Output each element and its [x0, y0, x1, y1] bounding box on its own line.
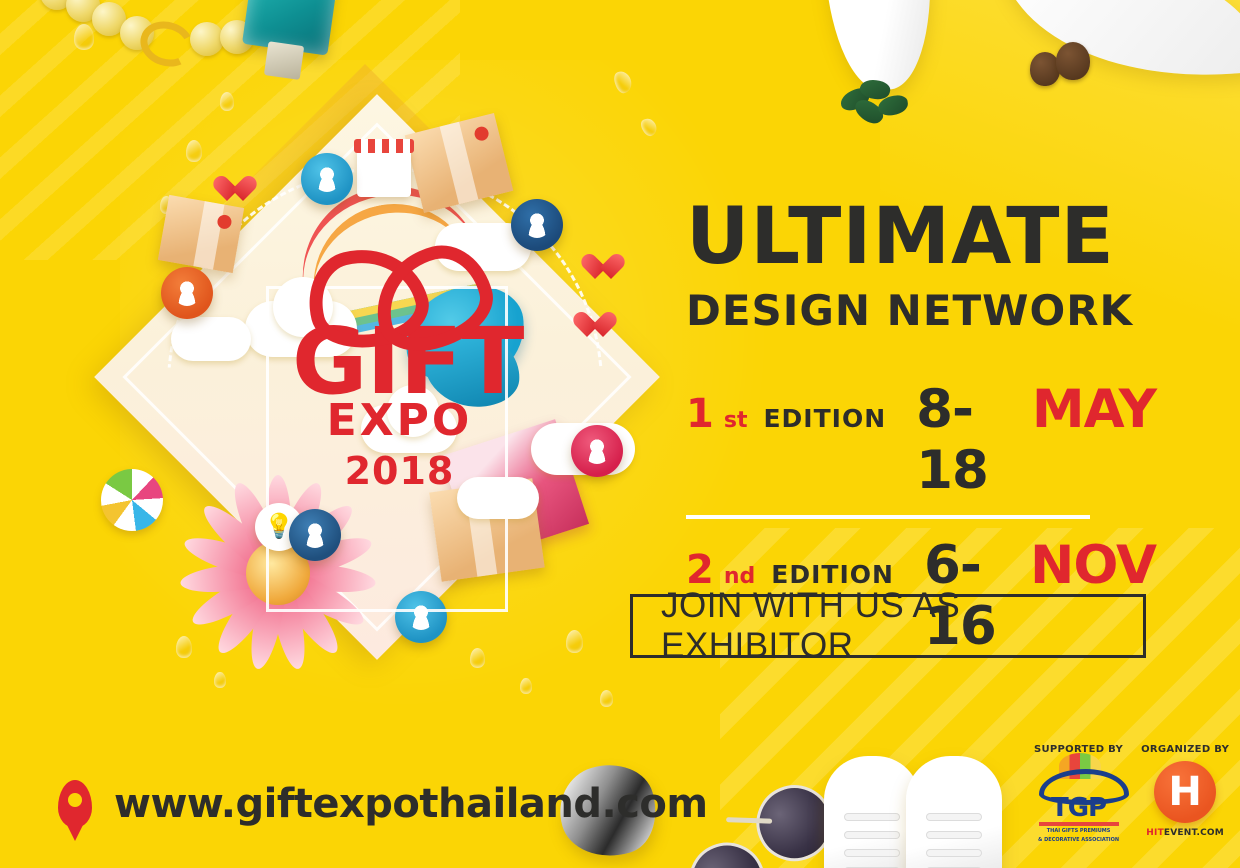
water-drop: [520, 678, 532, 694]
website-footer[interactable]: www.giftexpothailand.com: [58, 780, 708, 828]
sponsor-organized-by: ORGANIZED BY H HITEVENT.COM: [1141, 744, 1229, 844]
heart-icon: [213, 177, 243, 205]
tgp-subtitle-line1: THAI GIFTS PREMIUMS: [1034, 828, 1123, 835]
sponsor-label: ORGANIZED BY: [1141, 744, 1229, 755]
website-url[interactable]: www.giftexpothailand.com: [114, 781, 708, 827]
sponsor-supported-by: SUPPORTED BY TGP THAI GIFTS PREMIUMS & D…: [1034, 744, 1123, 844]
poster-canvas: 💡: [0, 0, 1240, 868]
avatar-pin-icon: [161, 267, 213, 319]
avatar-pin-icon: [395, 591, 447, 643]
pink-gerbera-icon: [163, 465, 393, 680]
heart-icon: [581, 255, 611, 283]
join-exhibitor-button[interactable]: JOIN WITH US AS EXHIBITOR: [630, 594, 1146, 658]
water-drop: [600, 690, 613, 707]
hit-logo-text-red: HIT: [1146, 828, 1164, 838]
avatar-pin-icon: [301, 153, 353, 205]
headline-primary: ULTIMATE: [686, 200, 1156, 274]
water-drop: [74, 24, 94, 50]
tgp-subtitle-line2: & DECORATIVE ASSOCIATION: [1034, 837, 1123, 844]
parcel-box-icon: [158, 195, 244, 273]
gift-expo-logo: GIFT EXPO 2018: [292, 248, 507, 493]
editions-divider: [686, 515, 1090, 519]
lollipop-icon: [101, 469, 163, 531]
greenery-icon: [840, 80, 910, 126]
hit-circle-icon: H: [1154, 761, 1216, 823]
edition-month: MAY: [1032, 379, 1156, 440]
edition-dates: 8-18: [916, 379, 1010, 501]
pine-cone-icon: [1056, 42, 1090, 80]
headline-secondary: DESIGN NETWORK: [686, 286, 1156, 335]
avatar-pin-icon: [289, 509, 341, 561]
sponsor-logos: SUPPORTED BY TGP THAI GIFTS PREMIUMS & D…: [1034, 744, 1234, 844]
cloud-icon: [171, 317, 251, 361]
hit-logo-text: HITEVENT.COM: [1141, 828, 1229, 838]
edition-label: EDITION: [771, 560, 894, 589]
edition-row: 1 st EDITION 8-18 MAY: [686, 379, 1156, 501]
tgp-ribbon-icon: [1037, 761, 1121, 795]
edition-ordinal: st: [724, 408, 748, 433]
avatar-pin-icon: [511, 199, 563, 251]
logo-year: 2018: [292, 449, 507, 493]
edition-number: 1: [686, 391, 714, 437]
avatar-pin-icon: [571, 425, 623, 477]
shop-icon: [357, 147, 411, 197]
hit-logo-text-dark: EVENT.COM: [1164, 828, 1224, 838]
heart-icon: [573, 313, 599, 337]
water-drop: [612, 69, 635, 95]
sneaker-icon: [906, 756, 1002, 868]
map-pin-icon: [58, 780, 92, 828]
edition-label: EDITION: [763, 404, 886, 433]
gift-bow-icon: [310, 248, 490, 326]
